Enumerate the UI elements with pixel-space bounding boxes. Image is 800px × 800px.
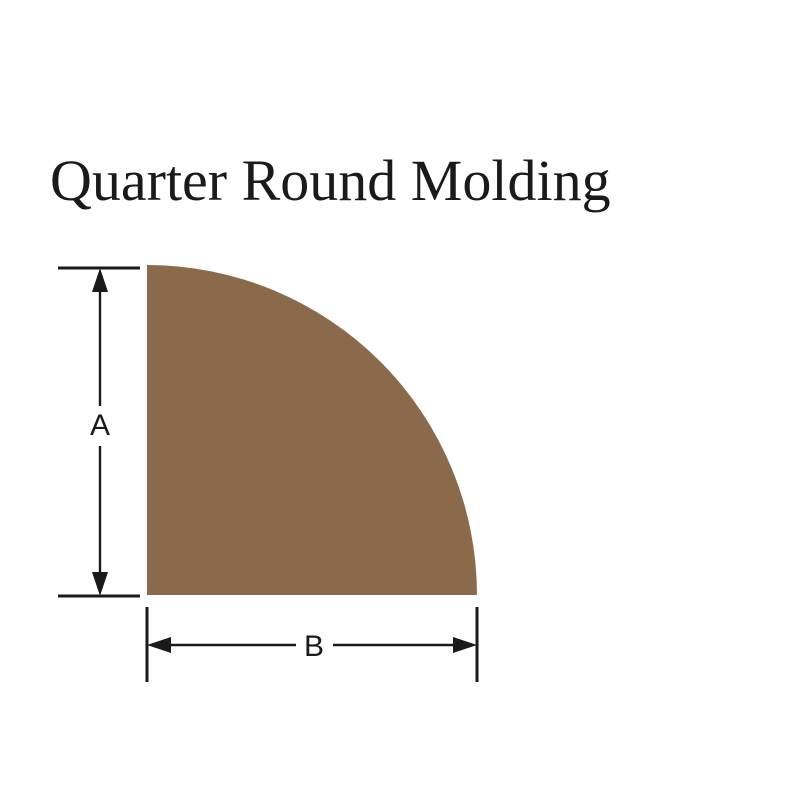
dimension-b-arrow-right-icon — [453, 637, 477, 653]
quarter-round-shape — [147, 265, 477, 595]
quarter-round-molding-diagram: Quarter Round Molding A B — [0, 0, 800, 800]
page-title: Quarter Round Molding — [50, 148, 611, 213]
dimension-b-label: B — [304, 630, 324, 663]
dimension-a-label: A — [90, 409, 110, 442]
dimension-a-arrow-bottom-icon — [92, 572, 108, 596]
diagram-canvas: Quarter Round Molding A B — [0, 0, 800, 800]
dimension-a-arrow-top-icon — [92, 268, 108, 292]
dimension-b-arrow-left-icon — [147, 637, 171, 653]
